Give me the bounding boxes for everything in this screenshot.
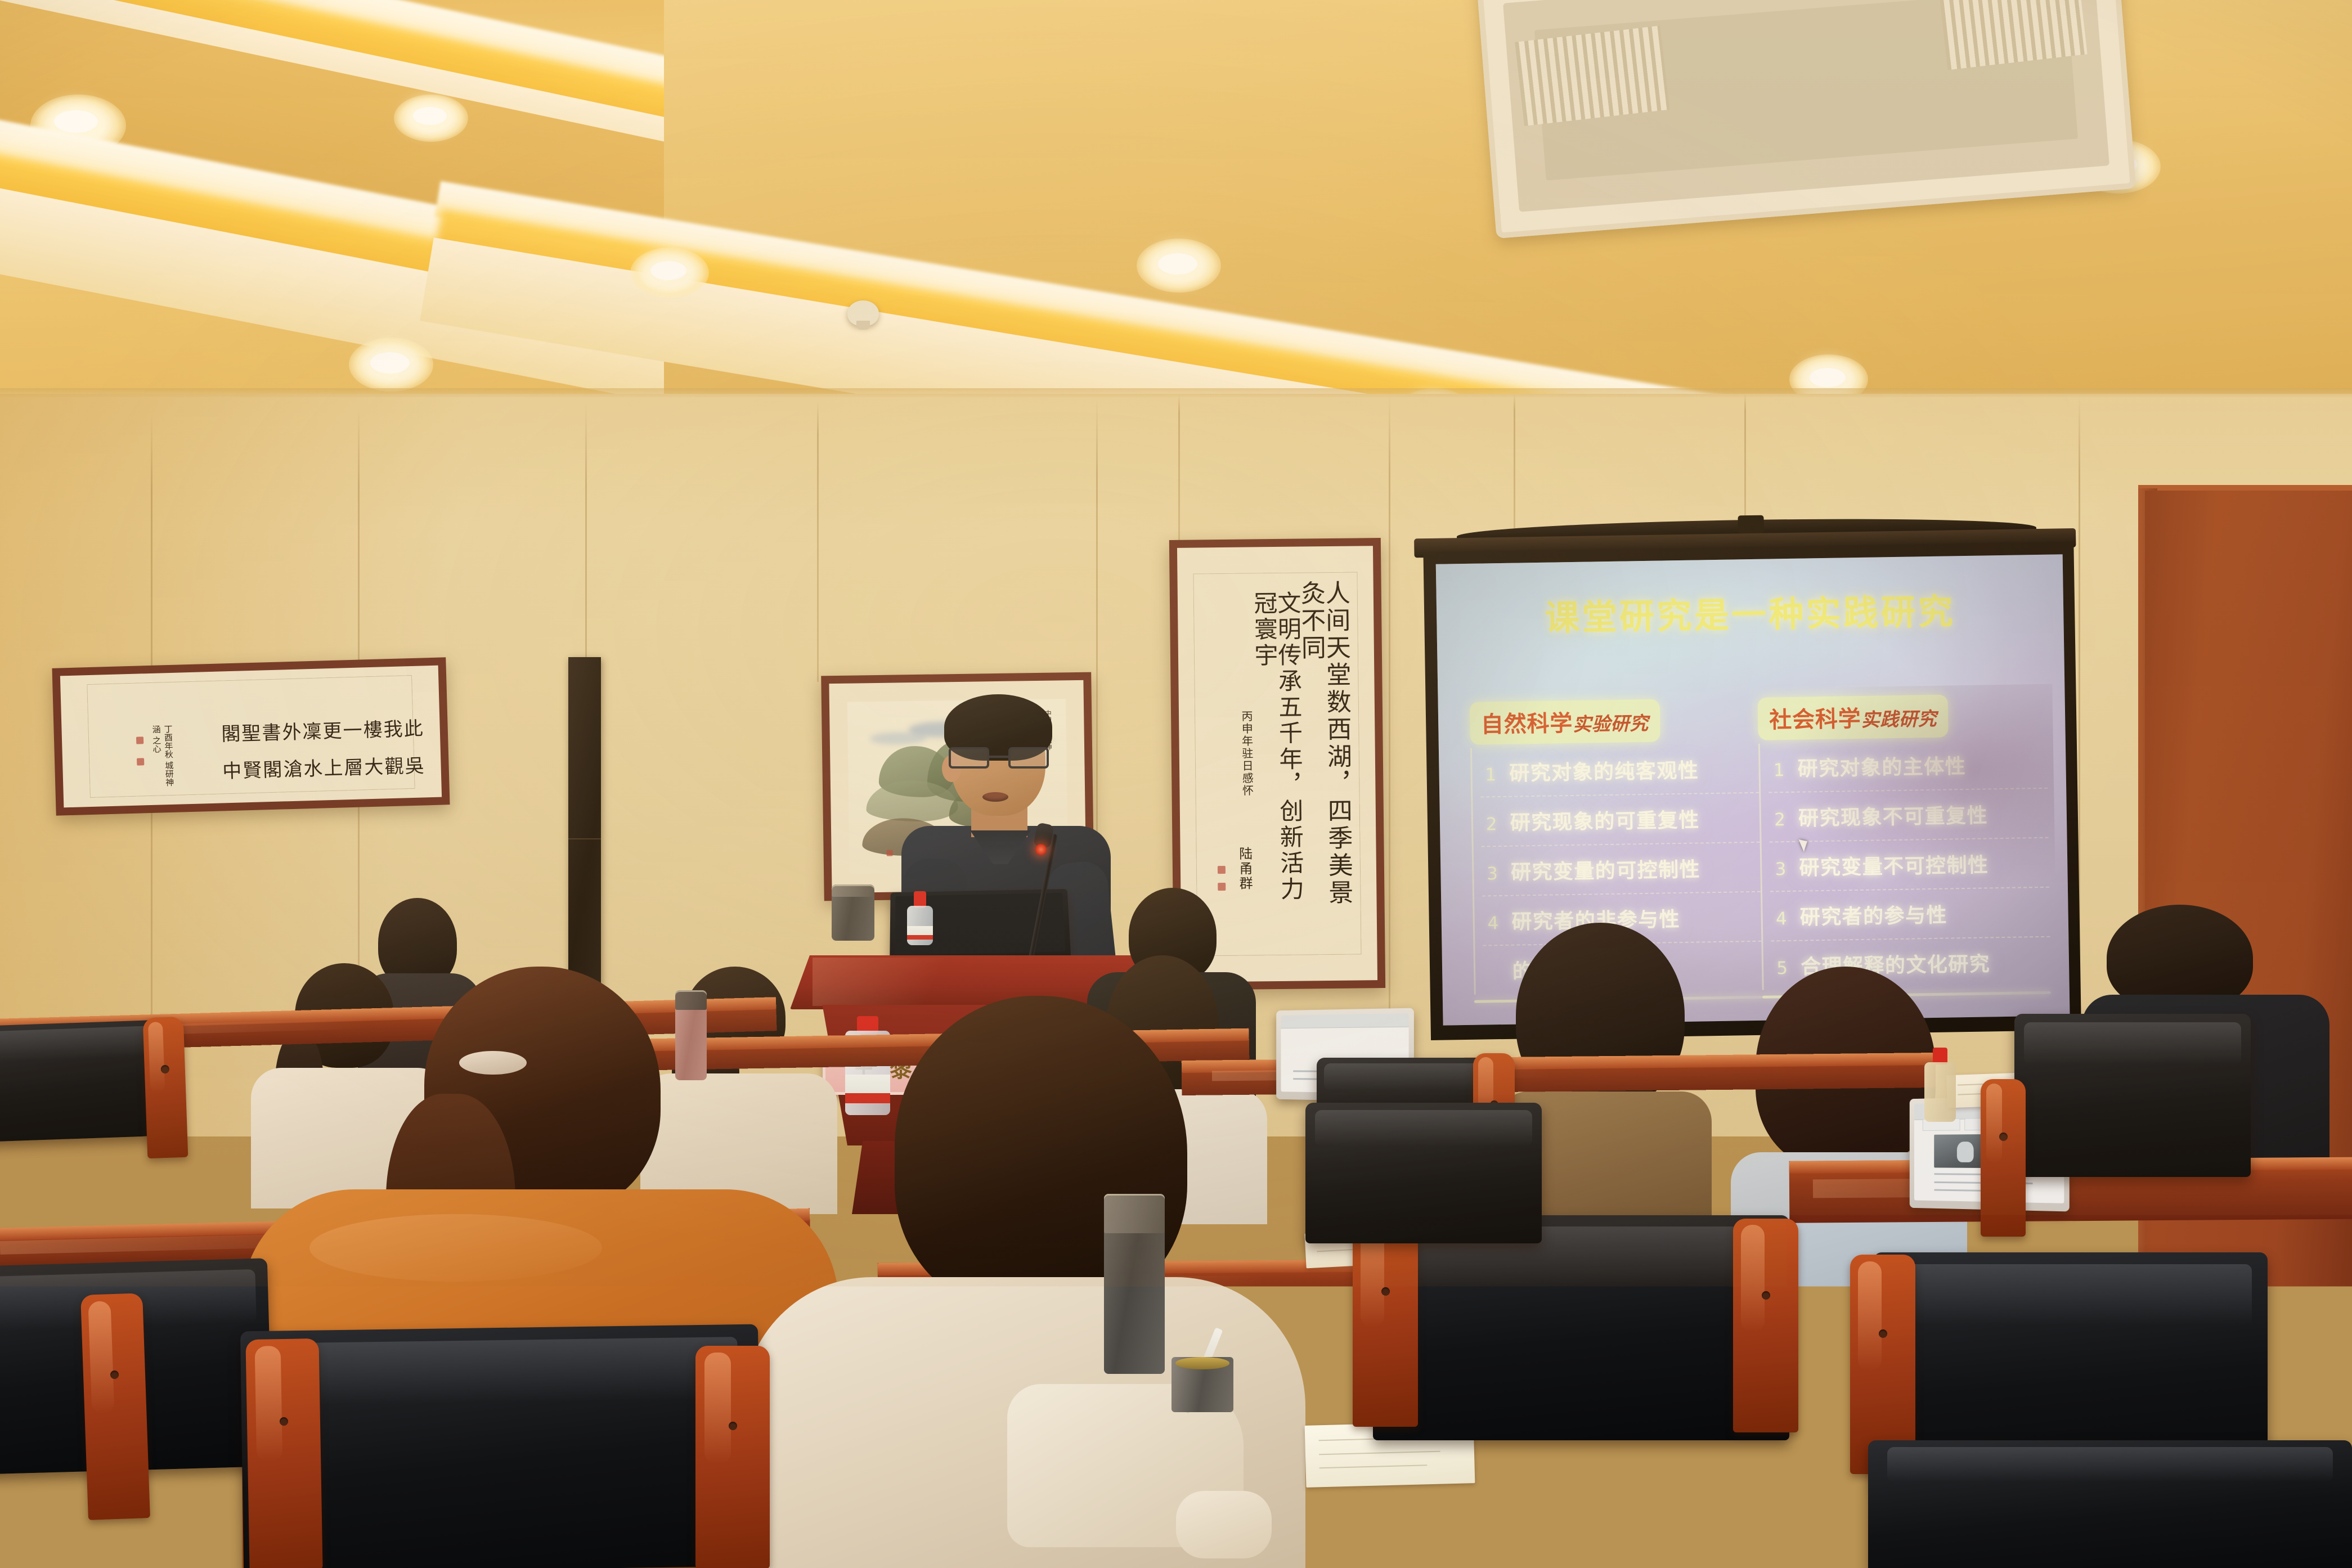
calligraphy-signature: 丁酉年秋 城研神涵 之心	[150, 725, 176, 792]
glasses-lens-left	[949, 747, 989, 769]
chair-back	[2014, 1014, 2251, 1177]
water-bottle	[907, 891, 933, 945]
chair-highlight	[0, 1026, 166, 1062]
paper-line	[1319, 1450, 1440, 1455]
chair-arm	[1733, 1219, 1798, 1432]
chair-arm-highlight	[1858, 1261, 1882, 1371]
chair-back	[0, 1468, 394, 1568]
chair-highlight	[261, 1337, 738, 1407]
screen-arm-knob	[1738, 515, 1763, 534]
recessed-downlight-core	[1158, 253, 1197, 275]
chair-arm	[143, 1017, 188, 1158]
chair[interactable]	[0, 1468, 394, 1568]
wall-panel-seam	[1514, 394, 1515, 538]
photo-scene: 閣聖書外凜更一樓我此 中賢閣滄水上層大觀吳 丁酉年秋 城研神涵 之心 中國和諧入…	[0, 0, 2352, 1568]
ac-louver	[1515, 26, 1669, 126]
wall-panel-seam	[1178, 395, 1180, 542]
chair[interactable]	[1373, 1215, 1789, 1440]
paper-line	[1319, 1464, 1428, 1468]
chair-back	[1868, 1440, 2352, 1568]
water-bottle	[1924, 1048, 1956, 1122]
scroll-column-1: 人间天堂数西湖，四季美景灸不同	[1298, 580, 1351, 929]
chair-arm-highlight	[1741, 1225, 1765, 1332]
calligraphy-line-1: 閣聖書外凜更一樓我此	[221, 713, 425, 746]
thermos-cap	[832, 884, 874, 897]
chair-arm	[1353, 1215, 1418, 1427]
recessed-downlight-core	[54, 110, 98, 133]
bottle-body	[1924, 1062, 1956, 1122]
chair-back	[1373, 1215, 1789, 1440]
chair-arm	[1981, 1079, 2026, 1237]
presenter-mouth	[982, 792, 1008, 802]
bottle-body	[907, 906, 933, 945]
scroll-column-3: 丙申年驻日感怀	[1241, 710, 1253, 834]
chair-arm	[695, 1346, 770, 1568]
bottle-label	[907, 926, 933, 940]
microphone-led-indicator	[1035, 844, 1047, 855]
thermos-flask	[1104, 1194, 1165, 1374]
chair-highlight	[0, 1474, 377, 1503]
chair-back	[1305, 1103, 1542, 1243]
chair-arm-highlight	[1986, 1084, 2003, 1162]
thermos-flask	[675, 990, 707, 1080]
thermos-flask	[832, 884, 874, 941]
recessed-downlight-core	[413, 107, 447, 125]
seal-stamp	[886, 850, 892, 856]
seal-stamp	[1218, 866, 1226, 874]
chair-arm-highlight	[704, 1353, 731, 1464]
chair-highlight	[1887, 1447, 2332, 1482]
wall-speaker-column	[568, 657, 601, 1006]
chair-highlight	[2024, 1022, 2241, 1064]
smoke-detector	[847, 300, 879, 326]
seal-stamp	[137, 758, 144, 765]
chair-arm-highlight	[254, 1346, 282, 1462]
recessed-downlight-core	[370, 352, 410, 374]
chair[interactable]	[1305, 1103, 1542, 1243]
shoulder-highlight	[309, 1214, 602, 1282]
hair-tie	[459, 1051, 527, 1075]
thermos-cap	[675, 990, 707, 1010]
chair[interactable]	[1868, 1440, 2352, 1568]
calligraphy-paper: 閣聖書外凜更一樓我此 中賢閣滄水上層大觀吳 丁酉年秋 城研神涵 之心	[60, 666, 442, 808]
cup-rim	[1175, 1357, 1230, 1369]
calligraphy-line-2: 中賢閣滄水上層大觀吳	[222, 750, 426, 783]
chair-highlight	[1889, 1264, 2252, 1326]
wall-panel-seam	[1389, 394, 1390, 1058]
seal-stamp	[136, 736, 143, 744]
chair-highlight	[1315, 1110, 1532, 1147]
attendee-cream-sweater	[743, 996, 1305, 1568]
scroll-column-2: 文明传承五千年，创新活力冠寰宇	[1252, 591, 1303, 929]
recessed-downlight-core	[650, 261, 686, 280]
recessed-downlight-core	[1810, 368, 1846, 387]
chair[interactable]	[2014, 1014, 2251, 1177]
glasses-bridge	[989, 756, 1008, 758]
chair-arm-highlight	[148, 1022, 165, 1093]
framed-horizontal-calligraphy: 閣聖書外凜更一樓我此 中賢閣滄水上層大觀吳 丁酉年秋 城研神涵 之心	[52, 657, 450, 815]
thermos-cap	[1104, 1194, 1165, 1233]
presenter-glasses	[949, 747, 1049, 770]
chair-arm-highlight	[88, 1301, 115, 1414]
attendee-hand	[1176, 1491, 1272, 1558]
wall-panel-seam	[817, 401, 819, 682]
thermos-lid-cup	[1171, 1357, 1233, 1412]
glasses-lens-right	[1008, 747, 1049, 769]
chair-highlight	[1324, 1063, 1495, 1091]
